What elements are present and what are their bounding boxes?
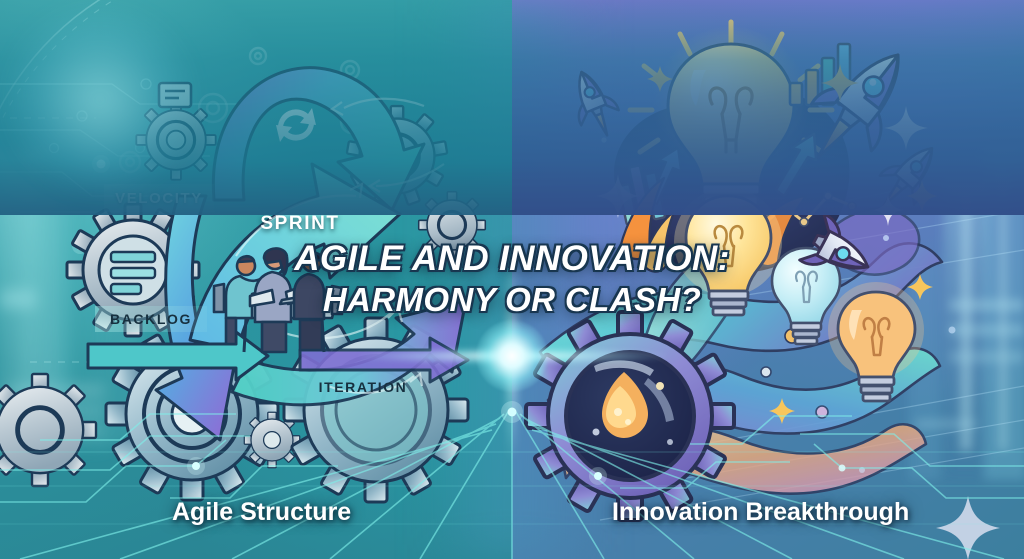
lightbulb-icon — [668, 44, 794, 230]
bubble-dots — [596, 329, 865, 434]
kanban-card-icon — [159, 83, 191, 107]
perspective-floor-right-tint — [512, 0, 1024, 215]
label-velocity: VELOCITY — [104, 184, 214, 212]
sparkle-icon — [596, 106, 928, 226]
banner-image: VELOCITY SPRINT BACKLOG ITERATION — [0, 0, 1024, 559]
bar-chart-icon — [790, 44, 850, 105]
center-flare-glow — [0, 0, 200, 200]
title-line-2: HARMONY OR CLASH? — [0, 279, 1024, 320]
trend-arrow-icon — [650, 148, 681, 204]
sparkle-icon — [936, 496, 1000, 559]
circuit-node — [187, 401, 846, 485]
center-flare-core — [476, 320, 548, 392]
caption-innovation-breakthrough: Innovation Breakthrough — [612, 498, 909, 527]
rocket-icon — [788, 31, 929, 181]
center-flare-horizontal — [360, 348, 666, 364]
bulb-rays — [630, 22, 832, 152]
rocket-small-icon — [867, 134, 949, 220]
bar-chart-small-icon — [615, 162, 665, 225]
rocket-small-icon — [563, 64, 626, 143]
page-title: AGILE AND INNOVATION: HARMONY OR CLASH? — [0, 238, 1024, 320]
trend-arrow-icon — [776, 134, 816, 196]
trend-line-icon — [760, 196, 852, 228]
label-sprint: SPRINT — [248, 209, 352, 239]
refresh-icon — [276, 108, 316, 142]
label-iteration: ITERATION — [308, 375, 418, 399]
caption-agile-structure: Agile Structure — [172, 498, 351, 527]
title-line-1: AGILE AND INNOVATION: — [0, 238, 1024, 279]
ghost-gear-icon — [120, 48, 363, 172]
perspective-floor — [0, 0, 1024, 215]
